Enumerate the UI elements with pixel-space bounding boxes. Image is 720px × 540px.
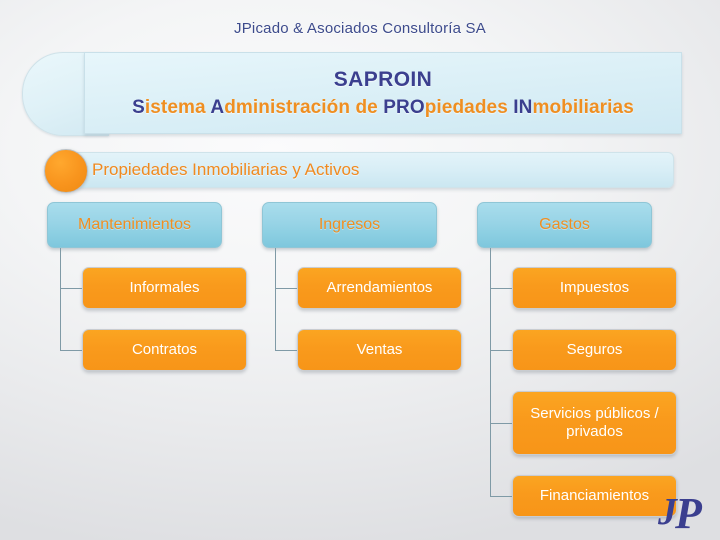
subtitle-segment-0: S — [132, 97, 145, 118]
leaf-node-label: Contratos — [132, 341, 197, 359]
category-header-label: Ingresos — [319, 216, 380, 234]
section-bullet-icon — [44, 149, 88, 193]
company-name: JPicado & Asociados Consultoría SA — [0, 20, 720, 37]
connector-trunk — [490, 248, 491, 496]
category-header-2[interactable]: Ingresos — [262, 202, 437, 248]
connector-branch — [490, 288, 512, 289]
subtitle-segment-1: istema — [145, 97, 210, 118]
connector-branch — [275, 288, 297, 289]
leaf-node-label: Impuestos — [560, 279, 629, 297]
jp-logo: J P — [656, 484, 712, 538]
leaf-node-label: Ventas — [357, 341, 403, 359]
connector-branch — [490, 423, 512, 424]
subtitle-segment-7: mobiliarias — [532, 97, 633, 118]
subtitle-segment-5: piedades — [425, 97, 514, 118]
connector-branch — [275, 350, 297, 351]
connector-branch — [490, 350, 512, 351]
leaf-node-label: Servicios públicos / privados — [519, 405, 670, 442]
slide-canvas: JPicado & Asociados Consultoría SA SAPRO… — [0, 0, 720, 540]
connector-trunk — [60, 248, 61, 350]
connector-trunk — [275, 248, 276, 350]
category-header-3[interactable]: Gastos — [477, 202, 652, 248]
category-header-label: Gastos — [539, 216, 590, 234]
subtitle-segment-3: dministración de — [224, 97, 383, 118]
connector-branch — [490, 496, 512, 497]
leaf-node-2-1[interactable]: Arrendamientos — [297, 267, 462, 309]
category-header-1[interactable]: Mantenimientos — [47, 202, 222, 248]
leaf-node-2-2[interactable]: Ventas — [297, 329, 462, 371]
leaf-node-label: Informales — [129, 279, 199, 297]
leaf-node-1-1[interactable]: Informales — [82, 267, 247, 309]
section-title: Propiedades Inmobiliarias y Activos — [92, 152, 359, 188]
leaf-node-3-3[interactable]: Servicios públicos / privados — [512, 391, 677, 455]
leaf-node-3-1[interactable]: Impuestos — [512, 267, 677, 309]
leaf-node-3-4[interactable]: Financiamientos — [512, 475, 677, 517]
app-subtitle: Sistema Administración de PROpiedades IN… — [132, 97, 634, 119]
leaf-node-label: Financiamientos — [540, 487, 649, 505]
subtitle-segment-2: A — [210, 97, 224, 118]
svg-text:P: P — [674, 489, 703, 538]
title-banner: SAPROIN Sistema Administración de PROpie… — [22, 52, 682, 134]
leaf-node-label: Arrendamientos — [327, 279, 433, 297]
subtitle-segment-6: IN — [513, 97, 532, 118]
title-banner-text: SAPROIN Sistema Administración de PROpie… — [84, 52, 682, 134]
app-acronym: SAPROIN — [334, 68, 432, 92]
subtitle-segment-4: PRO — [383, 97, 424, 118]
category-header-label: Mantenimientos — [78, 216, 191, 234]
leaf-node-label: Seguros — [567, 341, 623, 359]
connector-branch — [60, 288, 82, 289]
connector-branch — [60, 350, 82, 351]
leaf-node-3-2[interactable]: Seguros — [512, 329, 677, 371]
leaf-node-1-2[interactable]: Contratos — [82, 329, 247, 371]
